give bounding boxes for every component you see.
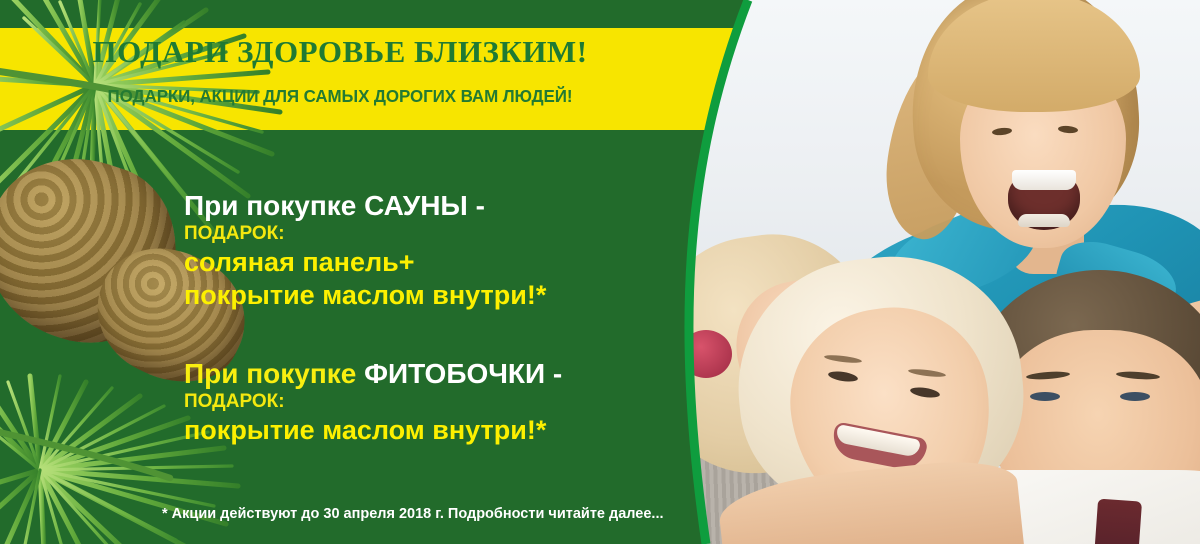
offer-sauna: При покупке САУНЫ - ПОДАРОК: соляная пан…: [184, 190, 654, 312]
offer-fitobochka-headline: При покупке ФИТОБОЧКИ -: [184, 358, 654, 389]
offer-sauna-gift-label: ПОДАРОК:: [184, 222, 654, 246]
offer-sauna-headline: При покупке САУНЫ -: [184, 190, 654, 221]
offer-fitobochka-gift-line-1: покрытие маслом внутри!*: [184, 414, 654, 447]
offer-sauna-gift-line-2: покрытие маслом внутри!*: [184, 279, 654, 312]
offer-fitobochka: При покупке ФИТОБОЧКИ - ПОДАРОК: покрыти…: [184, 358, 654, 447]
offers-list: При покупке САУНЫ - ПОДАРОК: соляная пан…: [0, 0, 700, 544]
offer-sauna-gift-line-1: соляная панель+: [184, 246, 654, 279]
promo-banner: ПОДАРИ ЗДОРОВЬЕ БЛИЗКИМ! ПОДАРКИ, АКЦИИ …: [0, 0, 1200, 544]
offer-fitobochka-gift-label: ПОДАРОК:: [184, 390, 654, 414]
offer-fitobochka-headline-main: ФИТОБОЧКИ -: [364, 358, 562, 389]
offer-sauna-headline-main: При покупке САУНЫ: [184, 190, 468, 221]
offer-fitobochka-headline-prefix: При покупке: [184, 358, 364, 389]
offer-sauna-headline-dash: -: [468, 190, 485, 221]
promo-footnote: * Акции действуют до 30 апреля 2018 г. П…: [162, 506, 702, 522]
